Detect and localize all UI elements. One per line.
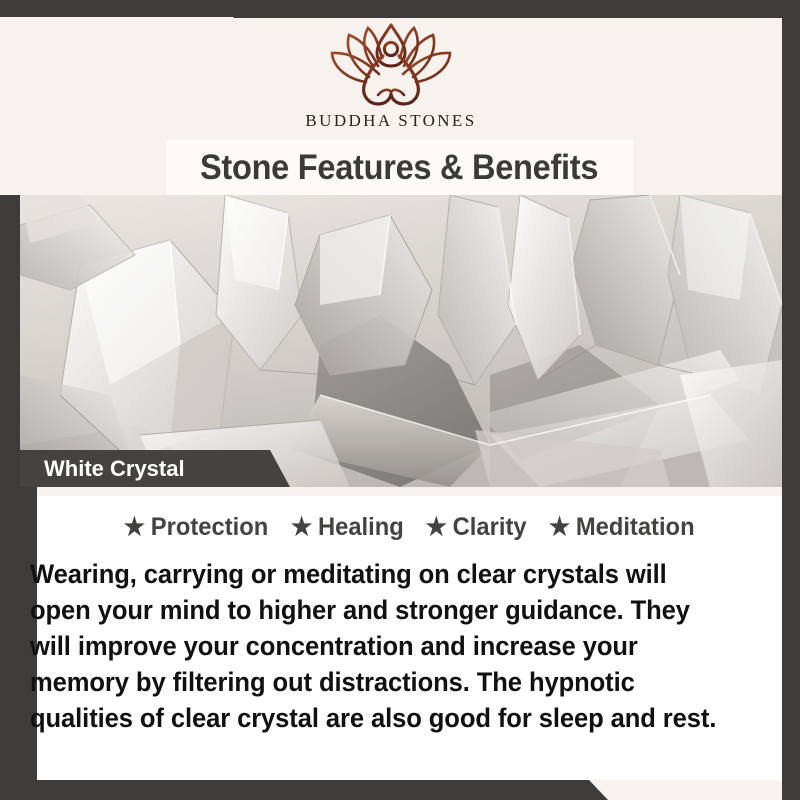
description-text: Wearing, carrying or meditating on clear… xyxy=(30,556,733,736)
benefit-label: Clarity xyxy=(453,513,527,542)
product-label-banner: White Crystal xyxy=(20,450,290,487)
benefits-row: ★ Protection ★ Healing ★ Clarity ★ Medit… xyxy=(37,513,782,542)
title-box: Stone Features & Benefits xyxy=(166,140,633,196)
star-icon: ★ xyxy=(291,515,312,540)
photo-left-edge xyxy=(0,195,20,487)
benefit-item: ★ Protection xyxy=(124,513,268,542)
infographic-page: BUDDHA STONES Stone Features & Benefits xyxy=(0,0,800,800)
page-title: Stone Features & Benefits xyxy=(200,148,598,188)
star-icon: ★ xyxy=(426,515,447,540)
photo-band xyxy=(0,195,800,487)
star-icon: ★ xyxy=(549,515,570,540)
product-label-text: White Crystal xyxy=(44,456,185,482)
star-icon: ★ xyxy=(124,515,145,540)
benefit-item: ★ Meditation xyxy=(549,513,695,542)
crystal-photo xyxy=(20,195,782,487)
panel-top-strip xyxy=(37,487,782,496)
benefit-label: Meditation xyxy=(576,513,695,542)
benefit-item: ★ Healing xyxy=(291,513,404,542)
brand-logo-block: BUDDHA STONES xyxy=(0,22,782,140)
top-accent-bar xyxy=(0,0,800,18)
benefit-label: Protection xyxy=(151,513,268,542)
lotus-meditation-icon xyxy=(316,22,466,110)
benefit-label: Healing xyxy=(318,513,404,542)
benefit-item: ★ Clarity xyxy=(426,513,527,542)
brand-name: BUDDHA STONES xyxy=(305,112,476,129)
